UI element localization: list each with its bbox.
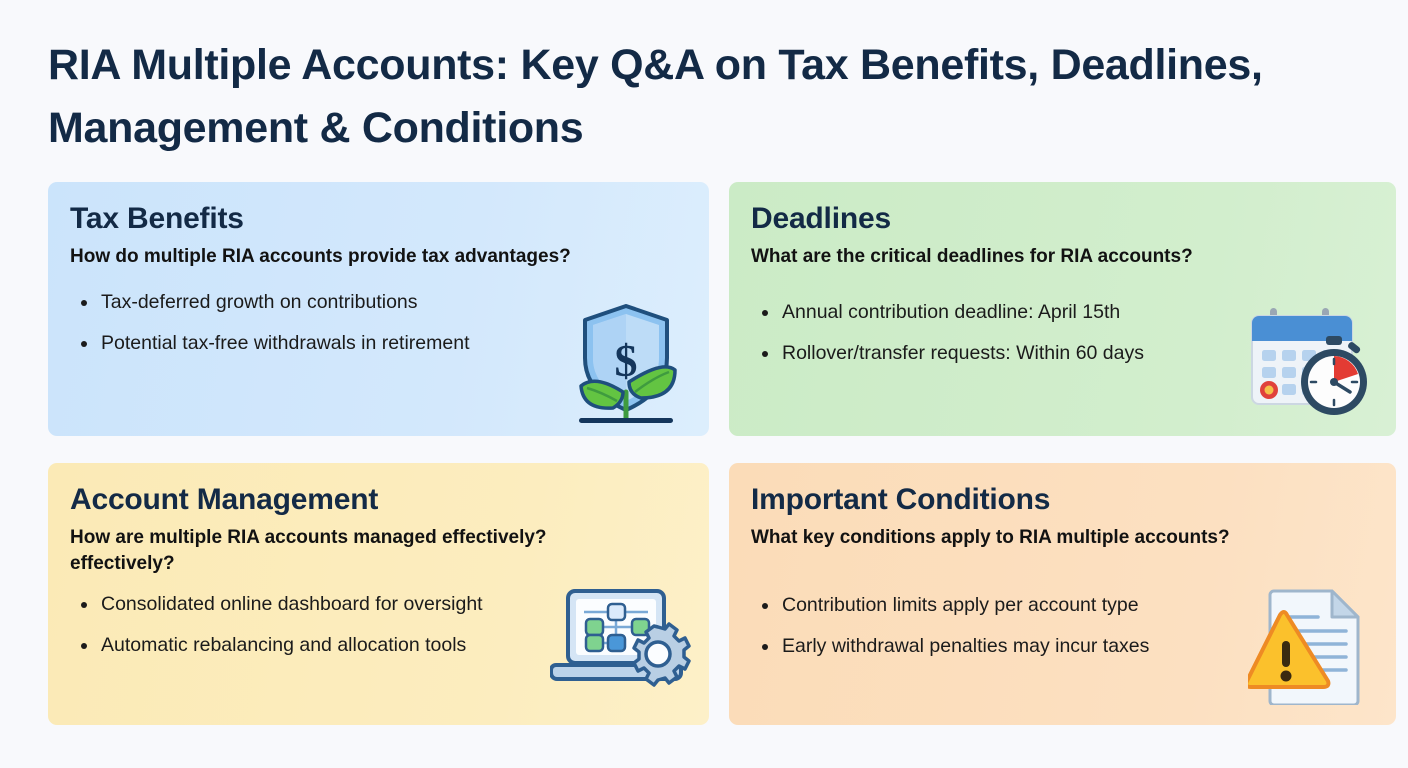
- card-question: What are the critical deadlines for RIA …: [751, 244, 1370, 269]
- card-grid: Tax Benefits How do multiple RIA account…: [48, 182, 1370, 725]
- svg-text:$: $: [615, 335, 638, 386]
- infographic-page: RIA Multiple Accounts: Key Q&A on Tax Be…: [0, 0, 1408, 768]
- card-bullet-list: Tax-deferred growth on contributions Pot…: [70, 290, 590, 357]
- list-item: Potential tax-free withdrawals in retire…: [70, 331, 590, 356]
- card-question: How are multiple RIA accounts managed ef…: [70, 525, 590, 576]
- card-heading: Tax Benefits: [70, 202, 683, 236]
- card-important-conditions: Important Conditions What key conditions…: [729, 463, 1396, 725]
- list-item: Annual contribution deadline: April 15th: [751, 300, 1311, 325]
- card-account-management: Account Management How are multiple RIA …: [48, 463, 709, 725]
- list-item: Early withdrawal penalties may incur tax…: [751, 634, 1311, 659]
- list-item: Contribution limits apply per account ty…: [751, 593, 1311, 618]
- card-question: How do multiple RIA accounts provide tax…: [70, 244, 590, 269]
- list-item: Consolidated online dashboard for oversi…: [70, 592, 630, 617]
- list-item: Automatic rebalancing and allocation too…: [70, 633, 630, 658]
- card-heading: Important Conditions: [751, 483, 1370, 517]
- card-deadlines: Deadlines What are the critical deadline…: [729, 182, 1396, 436]
- card-question: What key conditions apply to RIA multipl…: [751, 525, 1370, 550]
- page-title: RIA Multiple Accounts: Key Q&A on Tax Be…: [48, 34, 1368, 160]
- card-heading: Deadlines: [751, 202, 1370, 236]
- list-item: Tax-deferred growth on contributions: [70, 290, 590, 315]
- card-bullet-list: Contribution limits apply per account ty…: [751, 593, 1311, 660]
- card-bullet-list: Consolidated online dashboard for oversi…: [70, 592, 630, 659]
- list-item: Rollover/transfer requests: Within 60 da…: [751, 341, 1311, 366]
- card-heading: Account Management: [70, 483, 683, 517]
- card-tax-benefits: Tax Benefits How do multiple RIA account…: [48, 182, 709, 436]
- card-bullet-list: Annual contribution deadline: April 15th…: [751, 300, 1311, 367]
